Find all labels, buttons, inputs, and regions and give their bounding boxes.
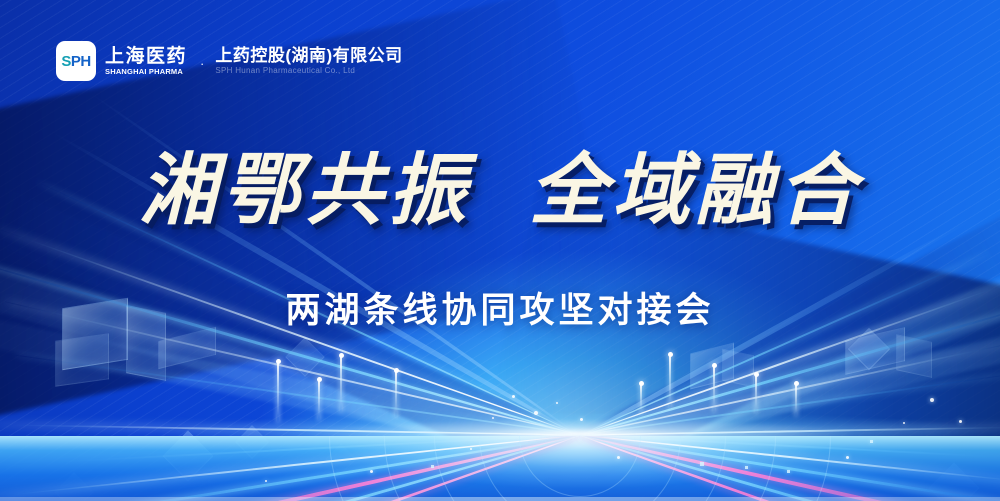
sph-wordmark: SPH [61, 54, 90, 69]
logo-lockup: SPH 上海医药 SHANGHAI PHARMA · 上药控股(湖南)有限公司 … [56, 41, 403, 81]
light-pole [395, 371, 397, 417]
sph-logo-badge: SPH [56, 41, 96, 81]
company-name-block: 上药控股(湖南)有限公司 SPH Hunan Pharmaceutical Co… [215, 47, 402, 75]
light-pole [277, 362, 279, 422]
particle [745, 466, 748, 469]
company-name-en: SPH Hunan Pharmaceutical Co., Ltd [215, 67, 402, 75]
event-banner: SPH 上海医药 SHANGHAI PHARMA · 上药控股(湖南)有限公司 … [0, 0, 1000, 501]
brand-name-block: 上海医药 SHANGHAI PHARMA [105, 47, 187, 75]
bottom-edge-glow [0, 497, 1000, 501]
light-pole [669, 355, 671, 409]
particle [556, 402, 558, 404]
particle [470, 448, 472, 450]
light-pole [318, 380, 320, 420]
sph-letter-s: S [61, 53, 71, 70]
brand-name-en: SHANGHAI PHARMA [105, 68, 187, 76]
particle [959, 420, 962, 423]
logo-separator-dot: · [200, 52, 204, 71]
particle [265, 480, 267, 482]
particle [700, 462, 704, 466]
headline-phrase-2: 全域融合 [529, 152, 861, 230]
particle [870, 440, 873, 443]
particle [492, 417, 494, 419]
subtitle-text: 两湖条线协同攻坚对接会 [285, 291, 714, 330]
light-pole [755, 375, 757, 413]
particle [617, 456, 620, 459]
light-pole [640, 384, 642, 414]
company-name-cn: 上药控股(湖南)有限公司 [215, 47, 402, 65]
light-pole [795, 384, 797, 416]
light-pole [713, 366, 715, 412]
particle [846, 456, 849, 459]
headline-phrase-1: 湘鄂共振 [139, 152, 471, 230]
brand-name-cn: 上海医药 [105, 47, 187, 67]
particle [903, 422, 905, 424]
particle [370, 470, 373, 473]
ground-reflection-arcs [270, 436, 890, 501]
particle [512, 395, 515, 398]
particle [534, 411, 538, 415]
sph-letters-ph: PH [71, 53, 91, 70]
headline: 湘鄂共振 全域融合 [0, 152, 1000, 230]
particle [787, 470, 790, 473]
subtitle: 两湖条线协同攻坚对接会 [0, 293, 1000, 328]
particle [431, 465, 434, 468]
particle [580, 418, 583, 421]
light-pole [340, 356, 342, 412]
particle [930, 398, 934, 402]
